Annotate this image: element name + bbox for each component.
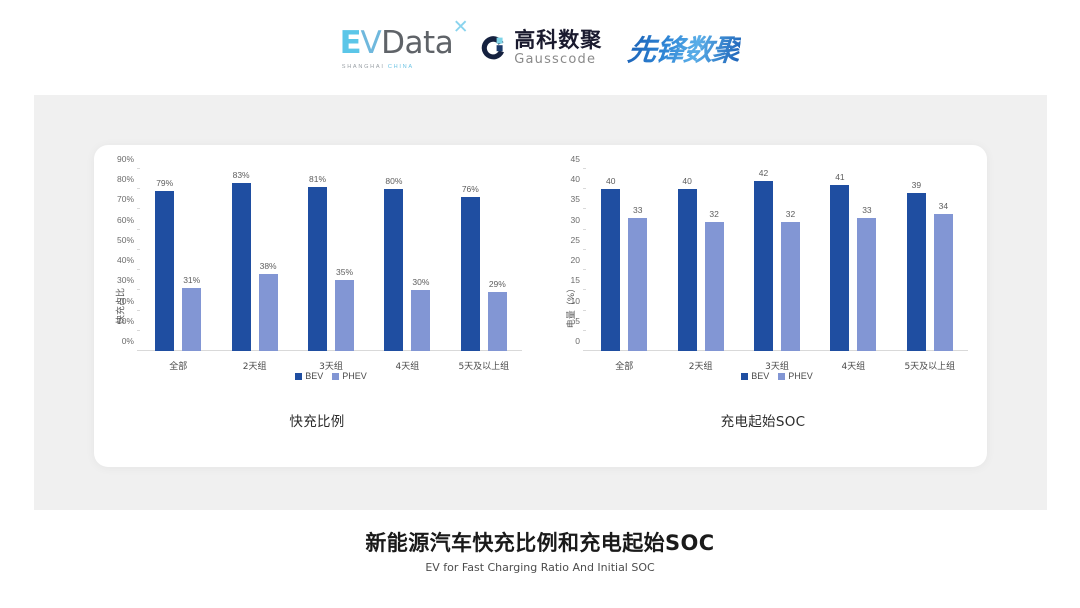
y-axis-tick-label: 50% <box>117 235 134 245</box>
bar-phev[interactable]: 38% <box>259 274 278 351</box>
y-axis-tick-label: 80% <box>117 174 134 184</box>
evdata-letter-e: E <box>339 25 361 61</box>
y-axis-tick-label: 30% <box>117 275 134 285</box>
bar-value-label: 76% <box>462 184 479 194</box>
gausscode-text: 高科数聚 Gausscode <box>514 30 602 66</box>
evdata-letters-data: Data <box>381 25 453 61</box>
evdata-tagline-country: CHINA <box>388 64 414 70</box>
bar-group: 40322天组 <box>662 169 738 351</box>
logo-strip: EVData ✕ SHANGHAI CHINA 高科数聚 Gausscode 先… <box>0 0 1080 95</box>
legend-label: PHEV <box>342 371 367 381</box>
legend-label: BEV <box>305 371 323 381</box>
bar-bev[interactable]: 81% <box>308 187 327 351</box>
y-axis-tick-label: 35 <box>571 194 580 204</box>
bar-groups: 79%31%全部83%38%2天组81%35%3天组80%30%4天组76%29… <box>140 169 522 351</box>
page-title: 新能源汽车快充比例和充电起始SOC <box>0 530 1080 556</box>
legend-swatch-bev <box>295 373 302 380</box>
gausscode-name-en: Gausscode <box>514 53 602 66</box>
plot-area: 0510152025303540454033全部40322天组42323天组41… <box>586 169 968 351</box>
y-axis-title: 快充占比 <box>114 288 127 324</box>
y-axis-tick-label: 90% <box>117 154 134 164</box>
legend-item-phev[interactable]: PHEV <box>332 371 367 381</box>
bar-value-label: 32 <box>786 209 795 219</box>
bar-value-label: 83% <box>233 170 250 180</box>
chart-legend: BEVPHEV <box>140 371 522 381</box>
bar-group: 81%35%3天组 <box>293 169 369 351</box>
y-axis-tick-label: 20 <box>571 255 580 265</box>
gausscode-mark-icon <box>479 34 507 62</box>
legend-swatch-phev <box>778 373 785 380</box>
legend-swatch-phev <box>332 373 339 380</box>
bar-phev[interactable]: 34 <box>934 214 953 352</box>
evdata-tagline-city: SHANGHAI <box>342 64 385 70</box>
chart-caption: 快充比例 <box>94 410 540 430</box>
bar-value-label: 29% <box>489 279 506 289</box>
evdata-x-icon: ✕ <box>453 16 468 38</box>
bar-phev[interactable]: 35% <box>335 280 354 351</box>
chart-initial-soc: 0510152025303540454033全部40322天组42323天组41… <box>540 145 986 467</box>
legend-label: BEV <box>751 371 769 381</box>
plot-area: 0%10%20%30%40%50%60%70%80%90%79%31%全部83%… <box>140 169 522 351</box>
bar-value-label: 40 <box>606 176 615 186</box>
xianfeng-logo: 先锋数聚 <box>626 27 742 69</box>
y-axis-tick-label: 25 <box>571 235 580 245</box>
bar-value-label: 30% <box>412 277 429 287</box>
bar-phev[interactable]: 33 <box>628 218 647 351</box>
page-subtitle: EV for Fast Charging Ratio And Initial S… <box>0 561 1080 574</box>
bar-value-label: 80% <box>385 176 402 186</box>
evdata-tagline: SHANGHAI CHINA <box>342 64 414 70</box>
bar-group: 79%31%全部 <box>140 169 216 351</box>
y-axis-tick-label: 30 <box>571 215 580 225</box>
bar-bev[interactable]: 76% <box>461 197 480 351</box>
bar-bev[interactable]: 79% <box>155 191 174 351</box>
legend-item-phev[interactable]: PHEV <box>778 371 813 381</box>
legend-swatch-bev <box>741 373 748 380</box>
y-axis-tick-label: 60% <box>117 215 134 225</box>
bar-group: 76%29%5天及以上组 <box>446 169 522 351</box>
bar-bev[interactable]: 39 <box>907 193 926 351</box>
legend-item-bev[interactable]: BEV <box>295 371 323 381</box>
bar-value-label: 32 <box>709 209 718 219</box>
footer: 新能源汽车快充比例和充电起始SOC EV for Fast Charging R… <box>0 530 1080 574</box>
charts-row: 0%10%20%30%40%50%60%70%80%90%79%31%全部83%… <box>94 145 987 467</box>
bar-phev[interactable]: 31% <box>182 288 201 351</box>
bar-bev[interactable]: 80% <box>384 189 403 351</box>
bar-phev[interactable]: 33 <box>857 218 876 351</box>
y-axis-tick-label: 45 <box>571 154 580 164</box>
bar-group: 41334天组 <box>815 169 891 351</box>
evdata-letter-v: V <box>360 25 381 61</box>
bar-value-label: 42 <box>759 168 768 178</box>
gausscode-logo: 高科数聚 Gausscode <box>479 30 602 66</box>
y-axis-tick-label: 70% <box>117 194 134 204</box>
bar-phev[interactable]: 32 <box>705 222 724 351</box>
bar-value-label: 39 <box>912 180 921 190</box>
chart-legend: BEVPHEV <box>586 371 968 381</box>
bar-group: 42323天组 <box>739 169 815 351</box>
bar-value-label: 79% <box>156 178 173 188</box>
bar-value-label: 33 <box>862 205 871 215</box>
bar-group: 83%38%2天组 <box>216 169 292 351</box>
charts-card: 0%10%20%30%40%50%60%70%80%90%79%31%全部83%… <box>94 145 987 467</box>
bar-bev[interactable]: 40 <box>678 189 697 351</box>
bar-group: 39345天及以上组 <box>892 169 968 351</box>
bar-bev[interactable]: 41 <box>830 185 849 351</box>
bar-bev[interactable]: 40 <box>601 189 620 351</box>
bar-value-label: 41 <box>835 172 844 182</box>
bar-group: 4033全部 <box>586 169 662 351</box>
bar-value-label: 34 <box>939 201 948 211</box>
evdata-logo: EVData ✕ SHANGHAI CHINA <box>340 25 453 70</box>
bar-value-label: 33 <box>633 205 642 215</box>
bar-value-label: 38% <box>260 261 277 271</box>
bar-phev[interactable]: 29% <box>488 292 507 351</box>
y-axis-tick-label: 40 <box>571 174 580 184</box>
bar-bev[interactable]: 83% <box>232 183 251 351</box>
evdata-wordmark: EVData ✕ <box>340 25 453 61</box>
y-axis-tick-label: 40% <box>117 255 134 265</box>
bar-groups: 4033全部40322天组42323天组41334天组39345天及以上组 <box>586 169 968 351</box>
chart-caption: 充电起始SOC <box>540 410 986 430</box>
y-axis-tick-label: 0 <box>575 336 580 346</box>
chart-fast-charging-ratio: 0%10%20%30%40%50%60%70%80%90%79%31%全部83%… <box>94 145 540 467</box>
bar-phev[interactable]: 32 <box>781 222 800 351</box>
bar-value-label: 35% <box>336 267 353 277</box>
gausscode-name-cn: 高科数聚 <box>514 30 602 51</box>
bar-bev[interactable]: 42 <box>754 181 773 351</box>
bar-group: 80%30%4天组 <box>369 169 445 351</box>
y-axis-tick-label: 0% <box>122 336 134 346</box>
bar-value-label: 81% <box>309 174 326 184</box>
bar-phev[interactable]: 30% <box>411 290 430 351</box>
legend-label: PHEV <box>788 371 813 381</box>
legend-item-bev[interactable]: BEV <box>741 371 769 381</box>
bar-value-label: 40 <box>682 176 691 186</box>
y-axis-title: 电量（%） <box>564 284 577 329</box>
bar-value-label: 31% <box>183 275 200 285</box>
